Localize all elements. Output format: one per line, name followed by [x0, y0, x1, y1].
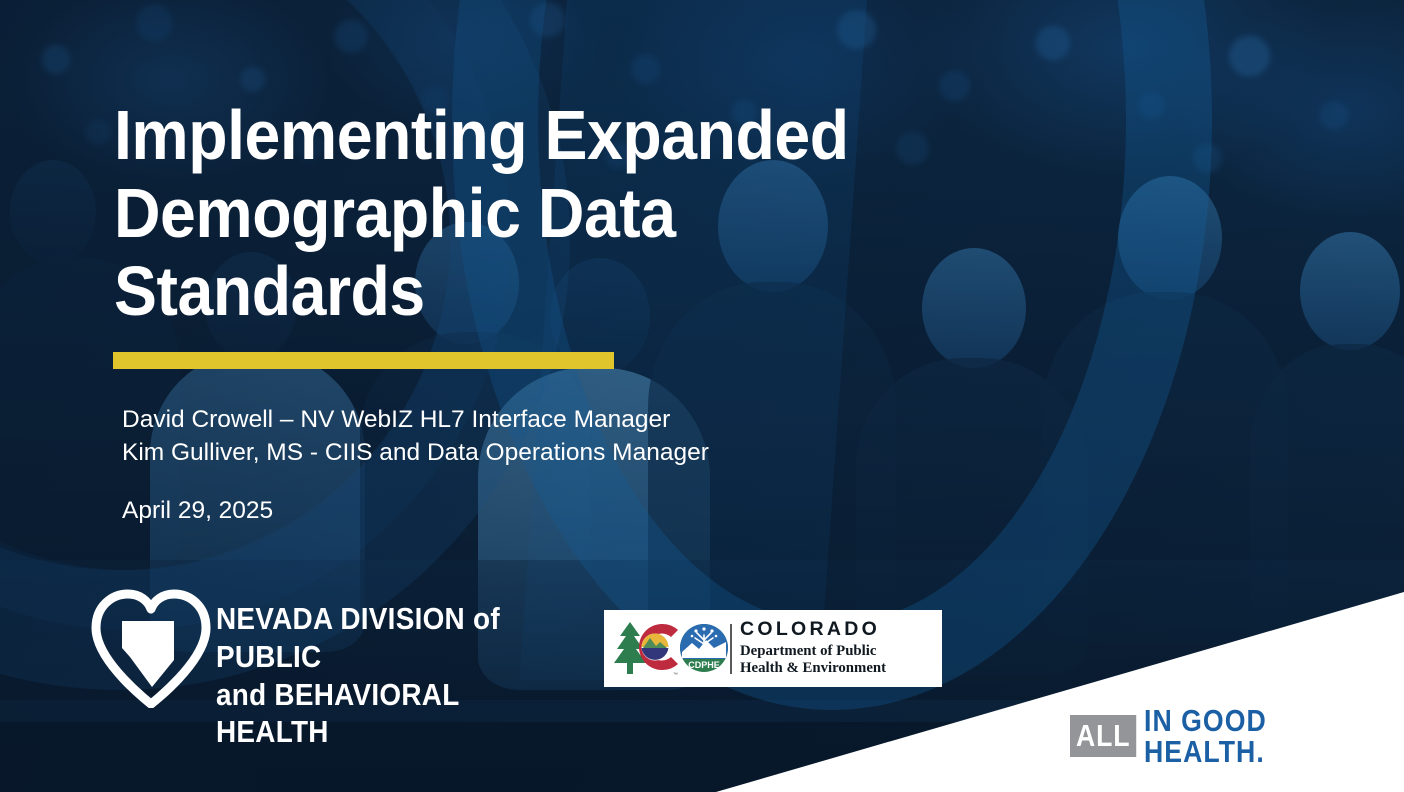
title-slide: Implementing Expanded Demographic Data S…: [0, 0, 1404, 792]
nevada-heart-icon: [88, 586, 214, 708]
colorado-logo-text: COLORADO Department of Public Health & E…: [740, 620, 942, 677]
svg-text:™: ™: [673, 672, 678, 678]
colorado-department-name: Department of Public Health & Environmen…: [740, 643, 938, 677]
all-in-good-health-tagline: ALL IN GOOD HEALTH.: [1070, 705, 1404, 767]
tagline-highlight: ALL: [1070, 715, 1136, 757]
nevada-logo-text: NEVADA DIVISION of PUBLIC and BEHAVIORAL…: [216, 600, 551, 751]
presentation-date: April 29, 2025: [122, 497, 273, 525]
nevada-logo: NEVADA DIVISION of PUBLIC and BEHAVIORAL…: [88, 586, 588, 708]
tagline-rest: IN GOOD HEALTH.: [1144, 705, 1367, 767]
presenter-names: David Crowell – NV WebIZ HL7 Interface M…: [122, 404, 942, 469]
cdphe-badge-text: CDPHE: [688, 660, 720, 670]
colorado-c-and-cdphe-icon: ™ CDPHE: [610, 618, 728, 680]
colorado-logo-divider: [730, 624, 732, 674]
colorado-state-name: COLORADO: [740, 620, 938, 640]
slide-title: Implementing Expanded Demographic Data S…: [114, 96, 850, 330]
colorado-logo: ™ CDPHE COLORAD: [604, 610, 942, 687]
title-underline-rule: [113, 352, 614, 369]
